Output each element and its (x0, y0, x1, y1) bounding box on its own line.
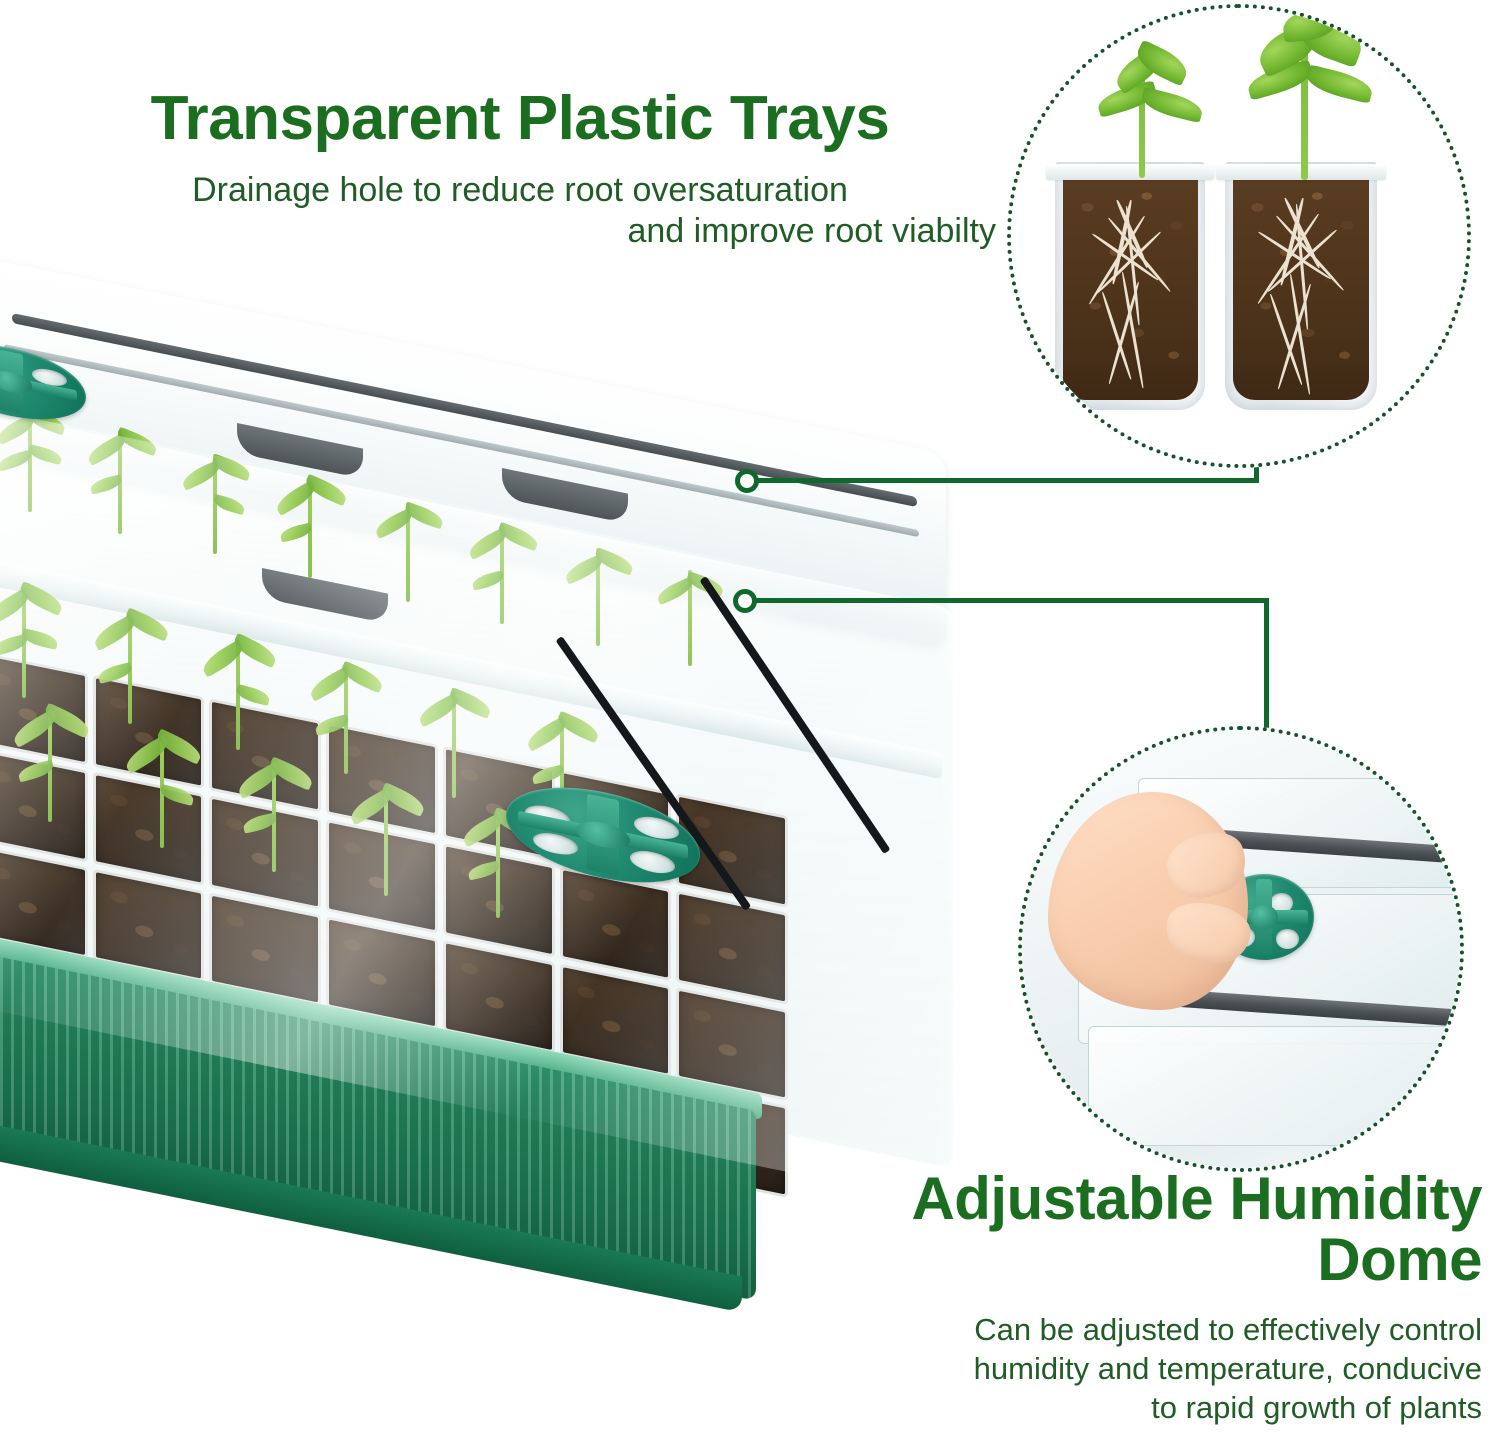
marketing-image-canvas: Transparent Plastic Trays Drainage hole … (0, 0, 1500, 1444)
top-feature-title: Transparent Plastic Trays (0, 88, 1040, 150)
callout-horizontal-line-top (757, 478, 1259, 483)
inset-seedling-left (1117, 50, 1217, 176)
transparent-cell-left (1055, 162, 1205, 410)
seedling (282, 478, 338, 578)
bottom-feature-text-block: Adjustable Humidity Dome Can be adjusted… (722, 1168, 1482, 1428)
callout-vertical-line-bottom (1264, 598, 1269, 748)
seedling (92, 430, 148, 534)
seedling (2, 408, 58, 512)
bottom-feature-subtitle-line3: to rapid growth of plants (722, 1388, 1482, 1427)
bottom-feature-title-line1: Adjustable Humidity (722, 1168, 1482, 1229)
top-feature-subtitle-line1: Drainage hole to reduce root oversaturat… (192, 171, 848, 209)
dome-panel-lower (1088, 1026, 1464, 1146)
callout-anchor-dot-bottom (733, 589, 757, 613)
bottom-feature-subtitle: Can be adjusted to effectively control h… (722, 1310, 1482, 1427)
inset-seedling-right (1269, 16, 1389, 172)
vent-center-hub (1250, 905, 1278, 929)
bottom-feature-subtitle-line1: Can be adjusted to effectively control (722, 1310, 1482, 1349)
callout-anchor-dot-top (735, 469, 759, 493)
seedling (426, 692, 482, 798)
seedling (187, 454, 243, 554)
seedling (358, 788, 414, 896)
seedling (210, 640, 266, 750)
callout-horizontal-line-bottom (755, 598, 1269, 603)
bottom-feature-title: Adjustable Humidity Dome (722, 1168, 1482, 1290)
bottom-feature-subtitle-line2: humidity and temperature, conducive (722, 1349, 1482, 1388)
seedling (570, 548, 626, 646)
callout-connector-bottom (733, 575, 1303, 735)
seedling (0, 588, 52, 698)
product-photo (0, 258, 1022, 1288)
inset-roots-circle (1007, 4, 1471, 468)
seedling (134, 736, 190, 848)
seedling (474, 524, 530, 624)
seedling (380, 502, 436, 602)
seedling-leaf (1139, 87, 1204, 123)
seedling (102, 614, 158, 724)
bottom-feature-title-line2: Dome (722, 1229, 1482, 1290)
top-feature-text-block: Transparent Plastic Trays Drainage hole … (0, 88, 1040, 253)
top-feature-subtitle-line2: and improve root viabilty (40, 211, 1000, 252)
inset-hand-vent-circle (1018, 726, 1464, 1172)
seedling (318, 666, 374, 774)
top-feature-subtitle: Drainage hole to reduce root oversaturat… (0, 170, 1040, 253)
seedling (246, 762, 302, 872)
seedling-leaf (1303, 64, 1375, 104)
transparent-cell-right (1225, 162, 1377, 410)
seedling (22, 710, 78, 822)
vent-hole (1276, 929, 1299, 949)
seed-cell (560, 866, 672, 980)
seed-cell (676, 890, 788, 1004)
